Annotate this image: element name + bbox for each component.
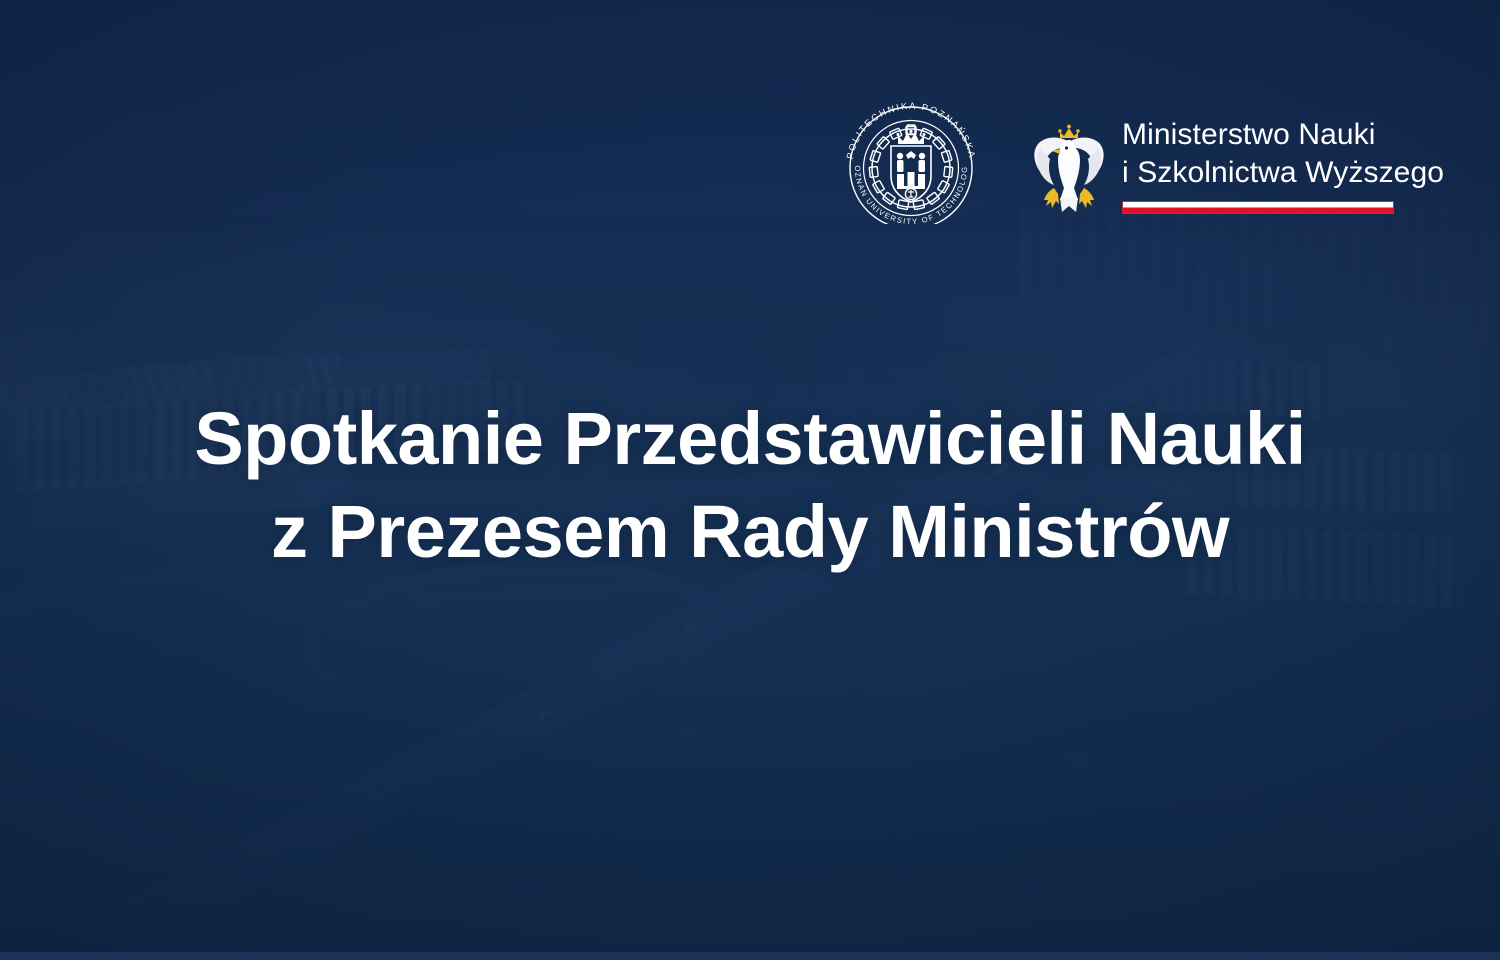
title-line-1: Spotkanie Przedstawicieli Nauki <box>60 392 1440 485</box>
title-line-2: z Prezesem Rady Ministrów <box>60 485 1440 578</box>
polish-eagle-icon <box>1030 120 1108 216</box>
bottom-bar <box>0 952 1500 960</box>
ministry-line-1: Ministerstwo Nauki <box>1122 116 1444 154</box>
polish-flag-bar <box>1122 201 1394 214</box>
event-banner: POLITECHNIKA POZNAŃSKA POZNAN UNIVERSITY… <box>0 0 1500 960</box>
put-seal-logo: POLITECHNIKA POZNAŃSKA POZNAN UNIVERSITY… <box>836 98 986 224</box>
logo-row: POLITECHNIKA POZNAŃSKA POZNAN UNIVERSITY… <box>836 98 1444 224</box>
ministry-text-block: Ministerstwo Nauki i Szkolnictwa Wyższeg… <box>1122 106 1444 214</box>
ministry-of-science-logo: Ministerstwo Nauki i Szkolnictwa Wyższeg… <box>1030 106 1444 216</box>
page-title: Spotkanie Przedstawicieli Nauki z Prezes… <box>0 392 1500 578</box>
ministry-line-2: i Szkolnictwa Wyższego <box>1122 154 1444 192</box>
